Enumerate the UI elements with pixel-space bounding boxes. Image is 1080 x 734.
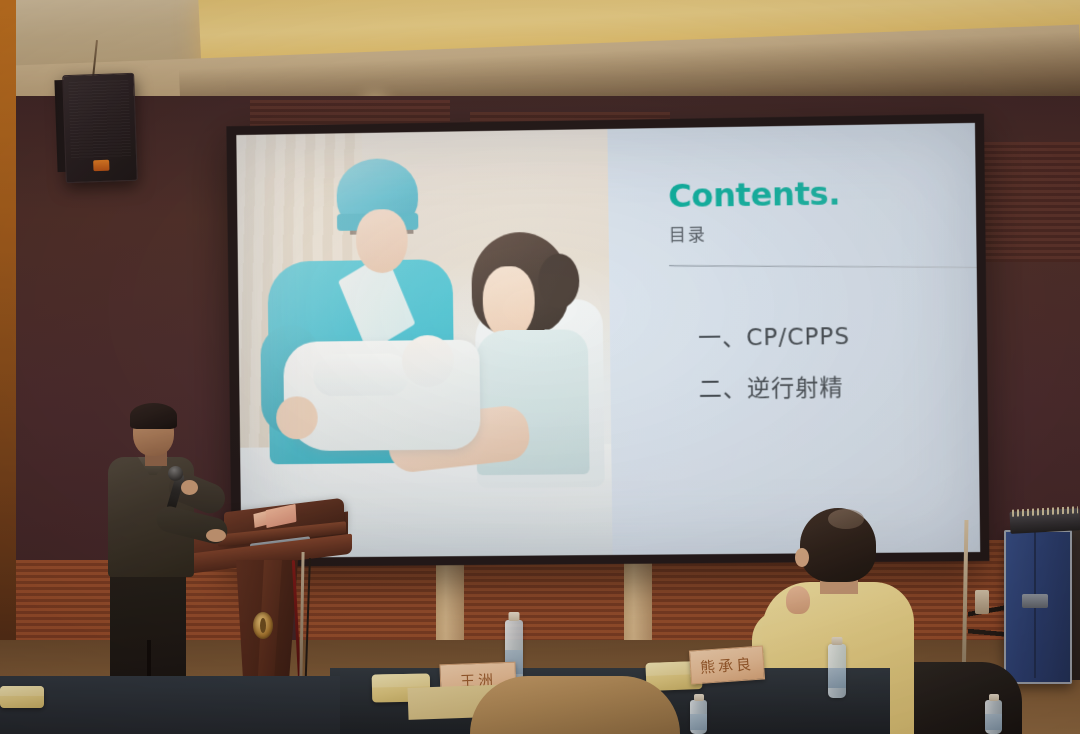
ceiling-speaker (62, 73, 138, 183)
bottle-cap (989, 694, 999, 701)
bottle-label (985, 714, 1002, 730)
slide-agenda-list: 一、CP/CPPS 二、逆行射精 (670, 315, 979, 404)
head-table-left (0, 676, 340, 734)
water-bottle (985, 700, 1002, 734)
flight-case-handle (1022, 594, 1048, 608)
slide-text-panel: Contents. 目录 一、CP/CPPS 二、逆行射精 (607, 123, 980, 555)
lunch-box-lid (0, 686, 44, 696)
slide-subtitle: 目录 (669, 217, 977, 247)
slide-title: Contents. (668, 175, 976, 212)
slide-photo (236, 129, 612, 558)
foreground-chair (470, 676, 680, 734)
wall-outlet (975, 590, 989, 614)
bottle-label (690, 714, 707, 730)
lunch-box (0, 686, 44, 708)
lectern-emblem-inner (260, 618, 266, 633)
presenter-hand-holding-mic (181, 480, 198, 495)
speaker-brand-badge (93, 160, 109, 172)
presentation-slide: Contents. 目录 一、CP/CPPS 二、逆行射精 (236, 123, 980, 558)
slide-divider (669, 265, 977, 268)
screen-surface: Contents. 目录 一、CP/CPPS 二、逆行射精 (236, 123, 980, 558)
speaker-grille (68, 80, 131, 160)
bottle-label (828, 668, 846, 688)
lunch-box-lid (372, 673, 430, 687)
presenter-hand-on-lectern (206, 529, 226, 542)
audience-hand (786, 586, 810, 614)
slide-agenda-item: 二、逆行射精 (698, 367, 978, 404)
audience-scalp (828, 509, 864, 529)
water-bottle (690, 700, 707, 734)
presenter-hair (130, 403, 177, 429)
wall-edge-highlight (0, 0, 16, 734)
conference-photo: Contents. 目录 一、CP/CPPS 二、逆行射精 (0, 0, 1080, 734)
name-card: 熊承良 (689, 645, 765, 684)
audience-ear (795, 548, 809, 567)
bottle-cap (509, 612, 520, 621)
slide-agenda-item: 一、CP/CPPS (698, 315, 978, 353)
bottle-cap (832, 637, 843, 645)
bottle-cap (694, 694, 704, 701)
water-bottle (828, 644, 846, 698)
photo-soft-overlay (236, 129, 612, 558)
